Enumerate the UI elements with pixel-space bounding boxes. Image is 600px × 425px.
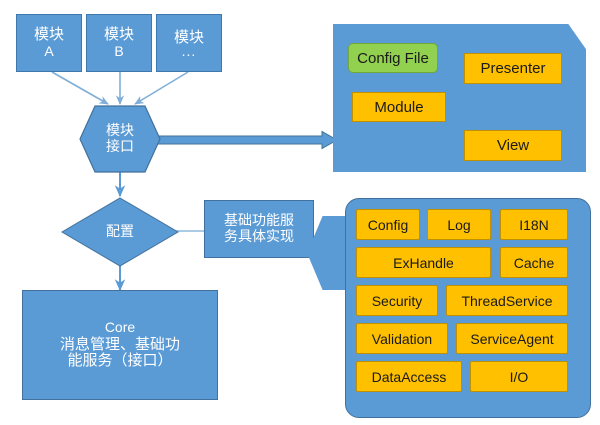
service-chip-dataaccess[interactable]: DataAccess <box>356 361 462 392</box>
module-c-tag: ... <box>182 47 197 57</box>
config-file-chip[interactable]: Config File <box>348 43 438 73</box>
service-chip-security[interactable]: Security <box>356 285 438 316</box>
module-box-a[interactable]: 模块 A <box>16 14 82 72</box>
module-box-c[interactable]: 模块 ... <box>156 14 222 72</box>
config-diamond-label: 配置 <box>106 224 134 240</box>
service-label: I18N <box>519 217 549 233</box>
view-label: View <box>497 137 529 154</box>
module-interface-line2: 接口 <box>106 139 134 155</box>
service-label: ThreadService <box>461 293 552 309</box>
module-chip-label: Module <box>374 99 423 116</box>
service-chip-io[interactable]: I/O <box>470 361 568 392</box>
core-line2: 能服务（接口） <box>67 353 172 370</box>
service-label: I/O <box>510 369 529 385</box>
services-callout[interactable]: 基础功能服 务具体实现 <box>204 200 314 258</box>
config-diamond[interactable]: 配置 <box>62 198 178 266</box>
service-chip-i18n[interactable]: I18N <box>500 209 568 240</box>
module-interface-line1: 模块 <box>106 123 134 139</box>
service-chip-cache[interactable]: Cache <box>500 247 568 278</box>
module-b-name: 模块 <box>104 27 134 44</box>
module-a-name: 模块 <box>34 27 64 44</box>
service-chip-exhandle[interactable]: ExHandle <box>356 247 491 278</box>
service-chip-config[interactable]: Config <box>356 209 420 240</box>
module-box-b[interactable]: 模块 B <box>86 14 152 72</box>
core-line1: 消息管理、基础功 <box>60 337 180 354</box>
presenter-chip[interactable]: Presenter <box>464 53 562 84</box>
connector-module-a-to-interface <box>52 72 108 104</box>
module-interface-hexagon[interactable]: 模块 接口 <box>80 106 160 172</box>
module-b-tag: B <box>114 44 123 60</box>
service-label: Cache <box>514 255 554 271</box>
module-a-tag: A <box>44 44 53 60</box>
callout-line2: 务具体实现 <box>224 229 294 245</box>
module-chip[interactable]: Module <box>352 92 446 122</box>
callout-line1: 基础功能服 <box>224 213 294 229</box>
service-label: DataAccess <box>372 369 447 385</box>
connector-module-c-to-interface <box>135 72 188 104</box>
service-chip-threadservice[interactable]: ThreadService <box>446 285 568 316</box>
service-chip-log[interactable]: Log <box>427 209 491 240</box>
service-label: ServiceAgent <box>470 331 553 347</box>
connector-interface-to-upper-panel <box>152 132 337 149</box>
config-file-label: Config File <box>357 50 429 67</box>
service-chip-serviceagent[interactable]: ServiceAgent <box>456 323 568 354</box>
service-label: Security <box>372 293 423 309</box>
core-title: Core <box>105 320 135 336</box>
presenter-label: Presenter <box>480 60 545 77</box>
service-label: Validation <box>372 331 432 347</box>
service-chip-validation[interactable]: Validation <box>356 323 448 354</box>
core-box[interactable]: Core 消息管理、基础功 能服务（接口） <box>22 290 218 400</box>
view-chip[interactable]: View <box>464 130 562 161</box>
service-label: ExHandle <box>393 255 454 271</box>
service-label: Config <box>368 217 408 233</box>
service-label: Log <box>447 217 470 233</box>
diagram-canvas: 模块 A 模块 B 模块 ... 模块 接口 配置 Core 消息管理、基础功 … <box>0 0 600 425</box>
